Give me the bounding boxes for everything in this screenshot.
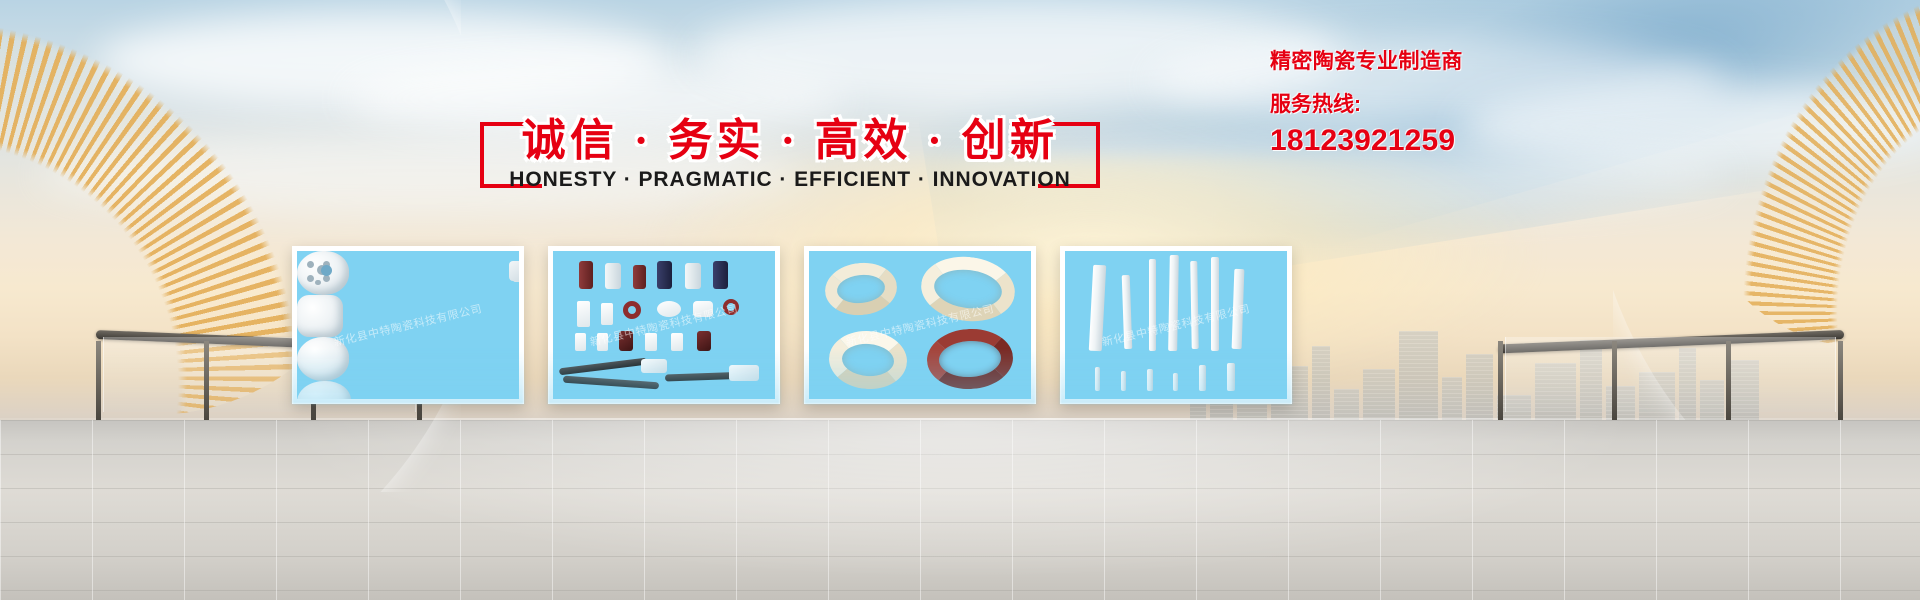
contact-block: 精密陶瓷专业制造商 服务热线: 18123921259 xyxy=(1270,50,1530,157)
panel-watermark: 新化县中特陶瓷科技有限公司 xyxy=(332,300,483,350)
ceramic-rod-part xyxy=(1190,261,1199,349)
ceramic-rod-part xyxy=(1211,257,1219,351)
ceramic-strip-part xyxy=(601,303,613,325)
o-ring-part xyxy=(623,301,641,319)
product-panel-ceramic-sockets[interactable]: 新化县中特陶瓷科技有限公司 xyxy=(292,246,524,404)
building-silhouette xyxy=(1399,331,1438,432)
ceramic-tube-part xyxy=(579,261,593,289)
slogan-english: HONESTY · PRAGMATIC · EFFICIENT · INNOVA… xyxy=(480,168,1100,192)
ceramic-disc-part xyxy=(657,301,681,317)
slogan-chinese: 诚信 · 务实 · 高效 · 创新 xyxy=(480,104,1100,168)
panel-reflection xyxy=(1060,348,1292,404)
panel-reflection xyxy=(292,348,524,404)
railing-post xyxy=(1726,341,1731,420)
ceramic-rod-part xyxy=(1122,275,1133,349)
ceramic-tube-part xyxy=(713,261,728,289)
hotline-number[interactable]: 18123921259 xyxy=(1270,124,1530,157)
product-panel-ceramic-rings[interactable]: 新化县中特陶瓷科技有限公司 xyxy=(804,246,1036,404)
ceramic-rod-part xyxy=(1232,269,1245,349)
railing-post xyxy=(1612,341,1617,420)
panel-reflection xyxy=(804,348,1036,404)
ceramic-socket-part xyxy=(297,295,343,337)
panel-reflection xyxy=(548,348,780,404)
railing-post xyxy=(96,341,101,420)
o-ring-part xyxy=(723,299,739,315)
ceramic-tube-part xyxy=(633,265,646,289)
ceramic-tube-part xyxy=(605,263,621,289)
hotline-label: 服务热线: xyxy=(1270,93,1530,116)
railing-post xyxy=(1838,341,1843,420)
ceramic-rod-part xyxy=(1089,265,1106,352)
ceramic-tube-part xyxy=(657,261,672,289)
glass-railing-right xyxy=(1498,324,1844,420)
ceramic-strip-part xyxy=(577,301,590,327)
slogan-block: 诚信 · 务实 · 高效 · 创新 HONESTY · PRAGMATIC · … xyxy=(480,104,1100,204)
product-panel-ceramic-rods[interactable]: 新化县中特陶瓷科技有限公司 xyxy=(1060,246,1292,404)
ceramic-block-part xyxy=(693,301,713,317)
railing-glass-panel xyxy=(1505,337,1837,412)
ceramic-ring-part xyxy=(822,259,899,318)
company-tagline: 精密陶瓷专业制造商 xyxy=(1270,50,1530,73)
ceramic-tube-part xyxy=(685,263,701,289)
product-gallery: 新化县中特陶瓷科技有限公司 xyxy=(292,246,1292,404)
hero-banner: 诚信 · 务实 · 高效 · 创新 HONESTY · PRAGMATIC · … xyxy=(0,0,1920,600)
railing-post xyxy=(1498,341,1503,420)
ceramic-rod-part xyxy=(1168,255,1179,351)
railing-post xyxy=(204,341,209,420)
ceramic-ring-part xyxy=(917,252,1018,327)
product-panel-ceramic-tubes[interactable]: 新化县中特陶瓷科技有限公司 xyxy=(548,246,780,404)
ceramic-rod-part xyxy=(1149,259,1156,351)
